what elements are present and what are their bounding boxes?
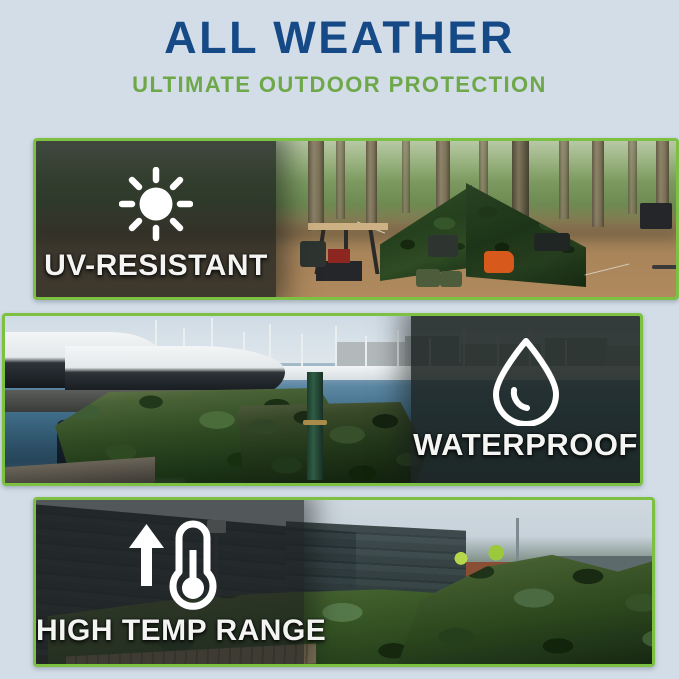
page-subtitle: ULTIMATE OUTDOOR PROTECTION [0,72,679,98]
page-title: ALL WEATHER [0,14,679,61]
feature-overlay-uv-resistant: UV-RESISTANT [36,141,276,297]
feature-panel-uv-resistant: UV-RESISTANT [33,138,679,300]
sun-icon [119,167,193,241]
product-feature-poster: ALL WEATHER ULTIMATE OUTDOOR PROTECTION [0,0,679,679]
feature-label-uv-resistant: UV-RESISTANT [36,249,276,283]
feature-panel-waterproof: WATERPROOF [2,313,643,486]
feature-overlay-waterproof: WATERPROOF [411,316,640,483]
feature-label-high-temp-range: HIGH TEMP RANGE [36,614,304,648]
feature-label-waterproof: WATERPROOF [411,427,640,463]
header: ALL WEATHER ULTIMATE OUTDOOR PROTECTION [0,14,679,98]
water-drop-icon [485,334,567,426]
feature-panel-high-temp-range: HIGH TEMP RANGE [33,497,655,667]
feature-overlay-high-temp-range: HIGH TEMP RANGE [36,500,304,664]
thermometer-up-icon [116,518,224,612]
